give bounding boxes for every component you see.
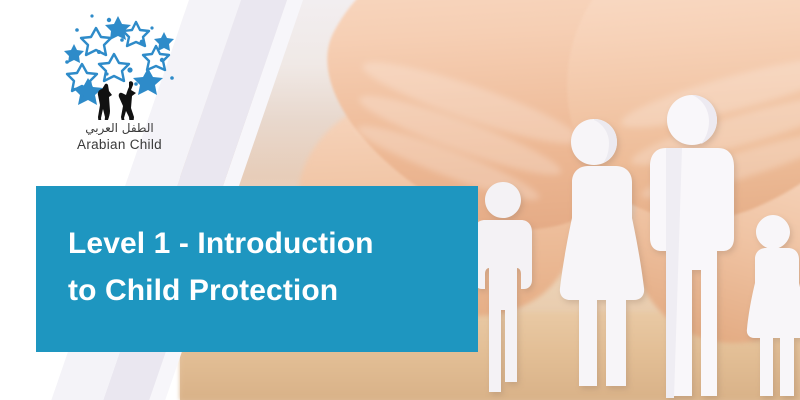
logo-latin-name: Arabian Child: [52, 137, 187, 152]
title-line-1: Level 1 - Introduction: [68, 220, 478, 267]
children-silhouette: [98, 81, 136, 120]
title-banner: Level 1 - Introduction to Child Protecti…: [36, 186, 478, 352]
logo-arabic-name: الطفل العربي: [52, 121, 187, 135]
paper-figure-child-left: [468, 178, 538, 396]
title-line-2: to Child Protection: [68, 267, 478, 314]
paper-figure-girl-right: [736, 212, 800, 400]
paper-figure-father: [640, 92, 744, 400]
paper-figure-mother: [538, 116, 650, 398]
star-tree-icon: [52, 8, 187, 120]
brand-logo[interactable]: الطفل العربي Arabian Child: [52, 8, 187, 152]
course-banner: الطفل العربي Arabian Child Level 1 - Int…: [0, 0, 800, 400]
